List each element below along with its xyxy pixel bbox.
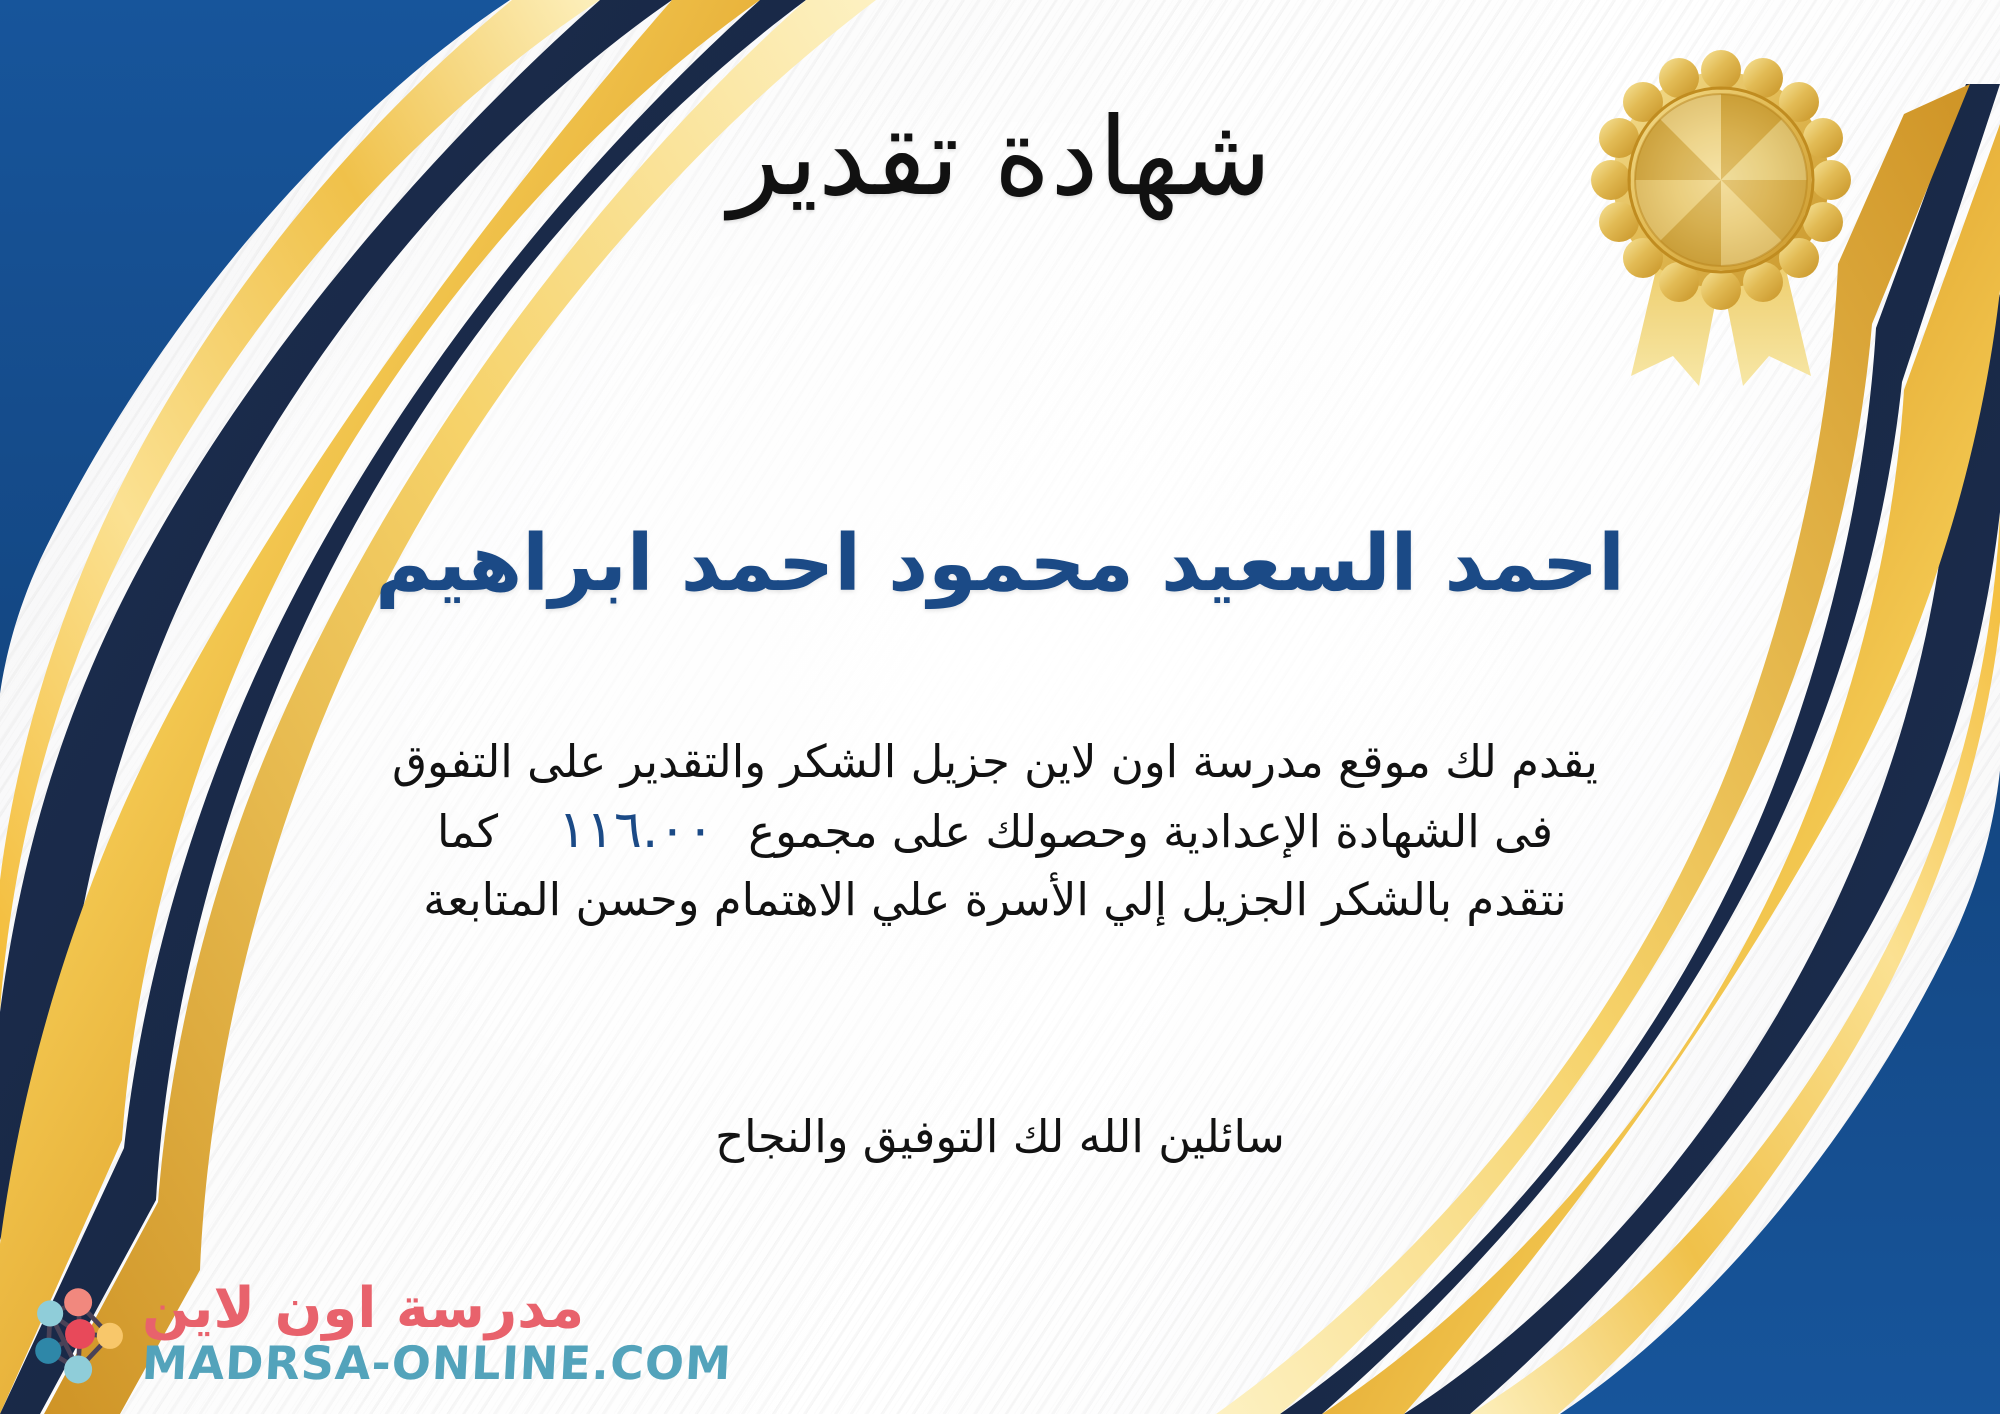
student-name: احمد السعيد محمود احمد ابراهيم [170, 518, 1830, 612]
network-nodes-icon [24, 1278, 136, 1390]
brand-website-url: MADRSA-ONLINE.COM [141, 1339, 733, 1387]
total-score-value: ١١٦.٠٠ [524, 794, 748, 868]
body-line-1: يقدم لك موقع مدرسة اون لاين جزيل الشكر و… [50, 730, 1940, 794]
certificate-content: شهادة تقدير احمد السعيد محمود احمد ابراه… [0, 0, 2000, 1414]
body-line-3: نتقدم بالشكر الجزيل إلي الأسرة علي الاهت… [50, 868, 1940, 932]
brand-logo-text: مدرسة اون لاين MADRSA-ONLINE.COM [142, 1280, 732, 1387]
body-line-2-right: فى الشهادة الإعدادية وحصولك على مجموع [748, 805, 1553, 858]
body-line-2-left: كما [437, 800, 524, 864]
certificate-canvas: شهادة تقدير احمد السعيد محمود احمد ابراه… [0, 0, 2000, 1414]
brand-logo[interactable]: مدرسة اون لاين MADRSA-ONLINE.COM [24, 1278, 732, 1390]
brand-name-arabic: مدرسة اون لاين [142, 1280, 584, 1339]
body-line-2: فى الشهادة الإعدادية وحصولك على مجموع١١٦… [50, 794, 1940, 868]
certificate-body: يقدم لك موقع مدرسة اون لاين جزيل الشكر و… [50, 730, 1940, 932]
certificate-title: شهادة تقدير [0, 96, 2000, 220]
closing-wish: سائلين الله لك التوفيق والنجاح [0, 1110, 2000, 1163]
